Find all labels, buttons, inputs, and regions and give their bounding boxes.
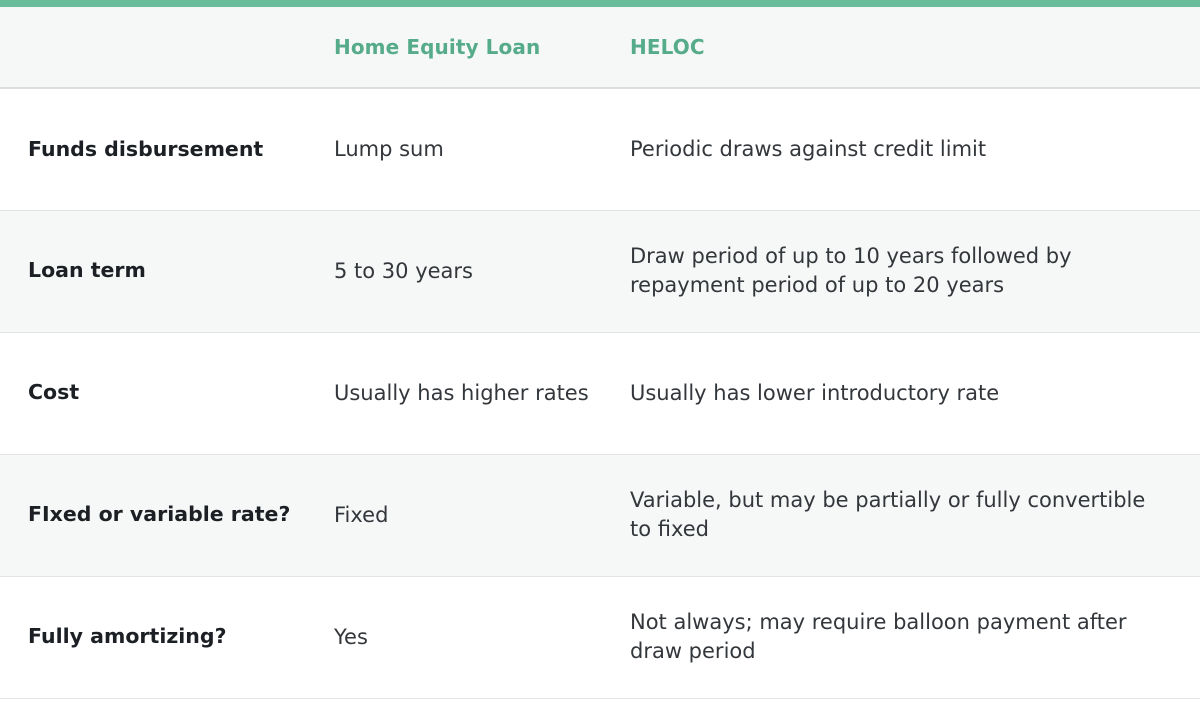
cell-home-equity-loan-funds-disbursement: Lump sum	[331, 88, 629, 210]
cell-home-equity-loan-cost: Usually has higher rates	[331, 332, 629, 454]
cell-home-equity-loan-fully-amortizing: Yes	[331, 576, 629, 698]
table-row: Fully amortizing? Yes Not always; may re…	[0, 576, 1200, 698]
column-header-feature	[0, 7, 331, 88]
cell-home-equity-loan-loan-term: 5 to 30 years	[331, 210, 629, 332]
row-label-funds-disbursement: Funds disbursement	[0, 88, 331, 210]
cell-heloc-fully-amortizing: Not always; may require balloon payment …	[629, 576, 1200, 698]
cell-heloc-cost: Usually has lower introductory rate	[629, 332, 1200, 454]
column-header-home-equity-loan: Home Equity Loan	[331, 7, 629, 88]
table-row: Funds disbursement Lump sum Periodic dra…	[0, 88, 1200, 210]
row-label-loan-term: Loan term	[0, 210, 331, 332]
row-label-fully-amortizing: Fully amortizing?	[0, 576, 331, 698]
table-header: Home Equity Loan HELOC	[0, 7, 1200, 88]
cell-heloc-loan-term: Draw period of up to 10 years followed b…	[629, 210, 1200, 332]
row-label-fixed-or-variable-rate: FIxed or variable rate?	[0, 454, 331, 576]
table-body: Funds disbursement Lump sum Periodic dra…	[0, 88, 1200, 698]
cell-heloc-funds-disbursement: Periodic draws against credit limit	[629, 88, 1200, 210]
table-row: FIxed or variable rate? Fixed Variable, …	[0, 454, 1200, 576]
cell-home-equity-loan-fixed-or-variable-rate: Fixed	[331, 454, 629, 576]
top-accent-bar	[0, 0, 1200, 7]
table-row: Cost Usually has higher rates Usually ha…	[0, 332, 1200, 454]
comparison-table-container: Home Equity Loan HELOC Funds disbursemen…	[0, 0, 1200, 722]
cell-heloc-fixed-or-variable-rate: Variable, but may be partially or fully …	[629, 454, 1200, 576]
column-header-heloc: HELOC	[629, 7, 1200, 88]
row-label-cost: Cost	[0, 332, 331, 454]
table-header-row: Home Equity Loan HELOC	[0, 7, 1200, 88]
table-row: Loan term 5 to 30 years Draw period of u…	[0, 210, 1200, 332]
comparison-table: Home Equity Loan HELOC Funds disbursemen…	[0, 7, 1200, 699]
